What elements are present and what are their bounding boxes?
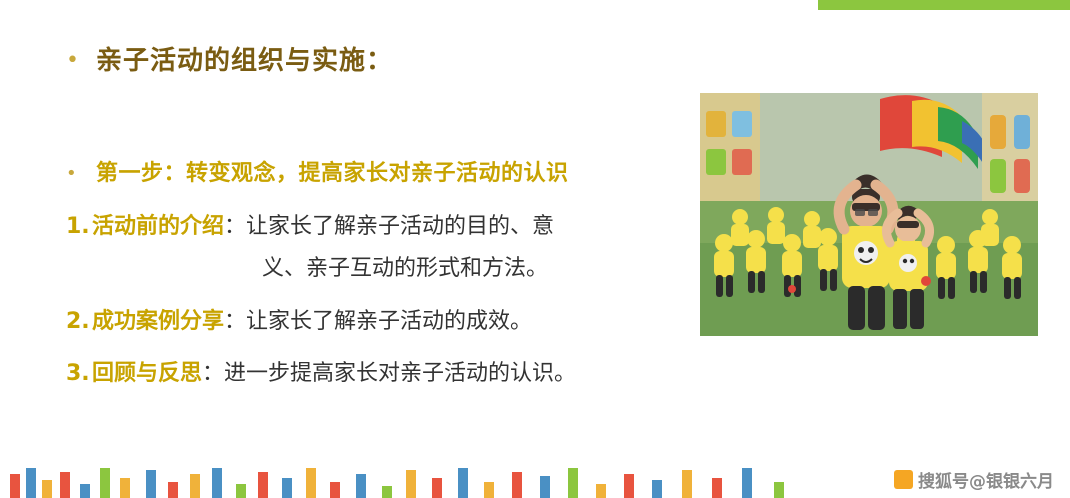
decoration-bar [120,478,130,498]
list-item-number: 1. [66,210,92,244]
decoration-bar [356,474,366,498]
list-item-body: ：进一步提高家长对亲子活动的认识。 [202,357,576,391]
decoration-bar [10,474,20,498]
decoration-bar [568,468,578,498]
list-item-body: ：让家长了解亲子活动的目的、意 [224,210,554,244]
activity-photo-image [700,93,1038,336]
decoration-bar [540,476,550,498]
title-text: 亲子活动的组织与实施： [96,42,393,80]
decoration-bar [212,468,222,498]
decoration-bar [682,470,692,498]
title-bullet-icon: • [66,42,96,80]
decoration-bar [512,472,522,498]
watermark: 搜狐号@银银六月 [894,467,1054,492]
decoration-bar [774,482,784,498]
decoration-bar [42,480,52,498]
list-item-body-wrap: 义、亲子互动的形式和方法。 [66,252,548,286]
watermark-text: 搜狐号@银银六月 [918,467,1054,492]
decoration-bar [406,470,416,498]
decoration-bar [458,468,468,498]
activity-photo [700,93,1038,336]
decoration-bar [484,482,494,498]
decoration-bar [712,478,722,498]
list-item: 2. 成功案例分享 ：让家长了解亲子活动的成效。 [66,305,532,339]
decoration-bar [236,484,246,498]
step-heading-text: 第一步：转变观念，提高家长对亲子活动的认识 [96,158,569,190]
decoration-bar [146,470,156,498]
decoration-bar [100,468,110,498]
top-green-accent-bar [818,0,1070,10]
decoration-bar [60,472,70,498]
decoration-bar [382,486,392,498]
decoration-bar [596,484,606,498]
sohu-logo-icon [894,470,913,489]
slide-canvas: • 亲子活动的组织与实施： • 第一步：转变观念，提高家长对亲子活动的认识 1.… [0,0,1070,498]
decoration-bar [624,474,634,498]
list-item-keyword: 回顾与反思 [92,357,202,391]
decoration-bar [26,468,36,498]
decoration-bar [80,484,90,498]
decoration-bar [190,474,200,498]
list-item-body: ：让家长了解亲子活动的成效。 [224,305,532,339]
decoration-bar [168,482,178,498]
decoration-bar [258,472,268,498]
decoration-bar [306,468,316,498]
list-item: 1. 活动前的介绍 ：让家长了解亲子活动的目的、意 [66,210,554,244]
slide-title: • 亲子活动的组织与实施： [66,42,393,80]
decoration-bar [432,478,442,498]
list-item-keyword: 活动前的介绍 [92,210,224,244]
list-item-number: 2. [66,305,92,339]
step-bullet-icon: • [66,158,96,190]
list-item-keyword: 成功案例分享 [92,305,224,339]
decoration-bar [330,482,340,498]
decoration-bar [742,468,752,498]
decoration-bar [652,480,662,498]
step-heading: • 第一步：转变观念，提高家长对亲子活动的认识 [66,158,569,190]
list-item-number: 3. [66,357,92,391]
list-item: 3. 回顾与反思 ：进一步提高家长对亲子活动的认识。 [66,357,576,391]
decoration-bar [282,478,292,498]
